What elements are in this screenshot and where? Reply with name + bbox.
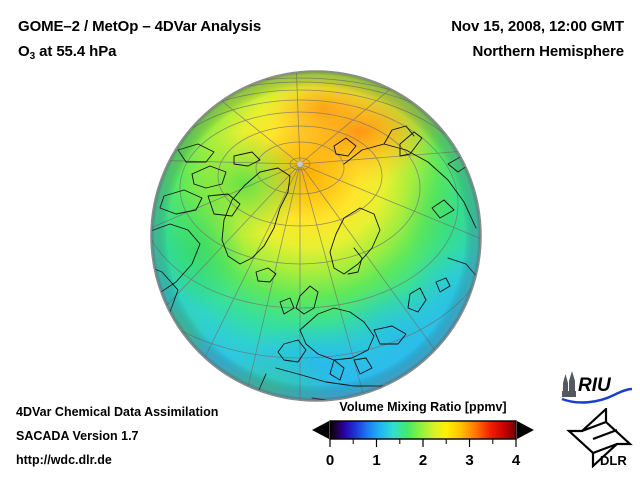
footer-line-version: SACADA Version 1.7 xyxy=(16,424,218,448)
riu-spires-icon xyxy=(562,371,576,397)
header-left: GOME–2 / MetOp – 4DVar Analysis O3 at 55… xyxy=(18,14,261,69)
colorbar-title: Volume Mixing Ratio [ppmv] xyxy=(310,400,536,414)
riu-logo: RIU xyxy=(558,371,634,405)
colorbar-tick-labels: 0 1 2 3 4 xyxy=(326,452,521,469)
datetime-label: Nov 15, 2008, 12:00 GMT xyxy=(451,14,624,39)
colorbar-tick-0: 0 xyxy=(326,452,334,469)
limb-shading xyxy=(151,71,481,401)
colorbar-tick-2: 2 xyxy=(419,452,427,469)
colorbar-under-arrow xyxy=(312,421,329,439)
colorbar-gradient xyxy=(330,421,516,439)
colorbar-ticks xyxy=(330,439,516,447)
colorbar: Volume Mixing Ratio [ppmv] xyxy=(310,400,536,473)
colorbar-tick-1: 1 xyxy=(372,452,380,469)
colorbar-tick-4: 4 xyxy=(512,452,521,469)
species-label: O xyxy=(18,43,30,60)
colorbar-tick-3: 3 xyxy=(465,452,473,469)
footer-line-url[interactable]: http://wdc.dlr.de xyxy=(16,448,218,472)
page-title: GOME–2 / MetOp – 4DVar Analysis xyxy=(18,14,261,39)
footer-credits: 4DVar Chemical Data Assimilation SACADA … xyxy=(16,400,218,472)
dlr-logo: DLR xyxy=(566,408,634,468)
dlr-wordmark: DLR xyxy=(600,453,627,468)
footer-line-assimilation: 4DVar Chemical Data Assimilation xyxy=(16,400,218,424)
colorbar-over-arrow xyxy=(517,421,534,439)
region-label: Northern Hemisphere xyxy=(451,39,624,64)
riu-wordmark: RIU xyxy=(578,375,612,396)
pressure-level-label: at 55.4 hPa xyxy=(35,43,116,60)
page-subtitle: O3 at 55.4 hPa xyxy=(18,39,261,69)
north-pole-marker xyxy=(297,161,303,167)
header-right: Nov 15, 2008, 12:00 GMT Northern Hemisph… xyxy=(451,14,624,64)
globe-map xyxy=(148,68,484,404)
